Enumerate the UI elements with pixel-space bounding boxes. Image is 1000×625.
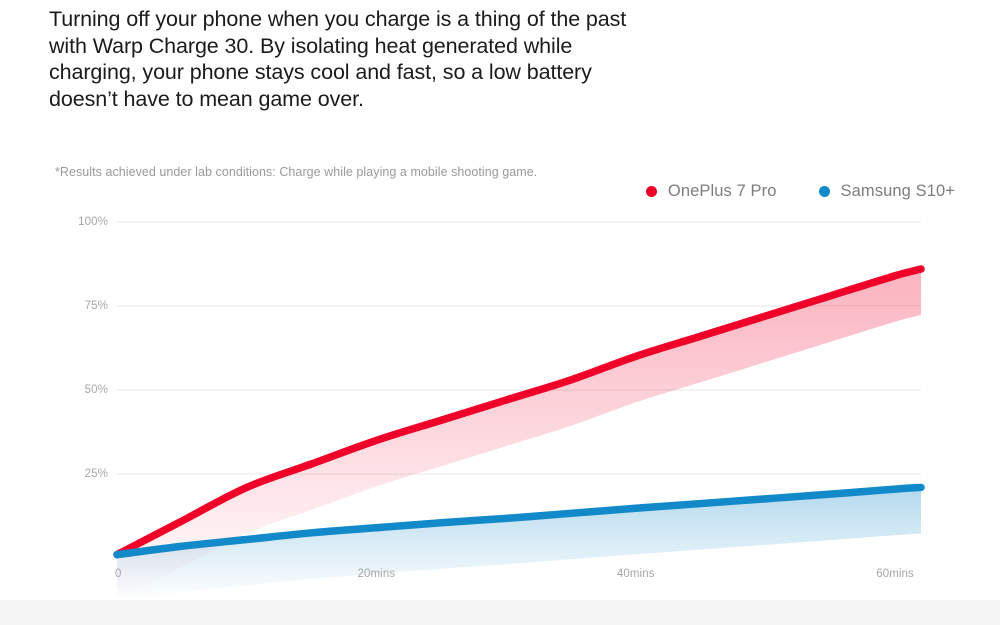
x-tick-label-20mins: 20mins [358,568,396,580]
y-tick-label-75%: 75% [62,300,108,312]
page-footer-band [0,600,1000,625]
chart-plot-area: 25%50%75%100% 020mins40mins60mins [0,140,1000,600]
x-tick-label-0: 0 [115,568,122,580]
chart-series-glow [117,269,921,600]
chart-svg [0,140,1000,600]
y-tick-label-100%: 100% [62,216,108,228]
page-headline: Turning off your phone when you charge i… [49,6,649,112]
chart-card: *Results achieved under lab conditions: … [0,140,1000,600]
x-tick-label-60mins: 60mins [876,568,914,580]
y-tick-label-25%: 25% [62,468,108,480]
y-tick-label-50%: 50% [62,384,108,396]
x-tick-label-40mins: 40mins [617,568,655,580]
